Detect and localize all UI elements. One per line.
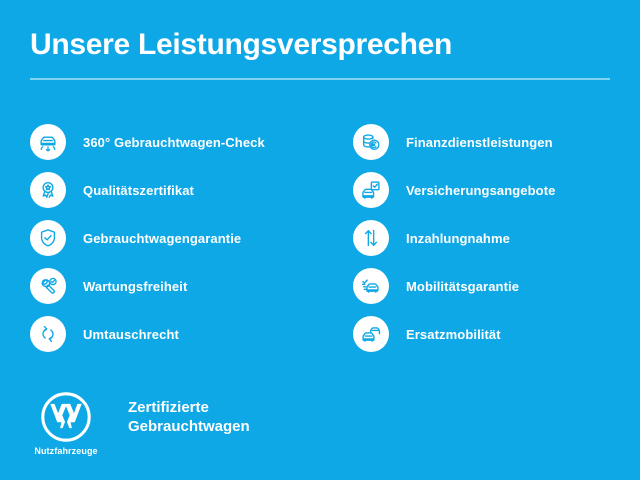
brand-mark: Nutzfahrzeuge <box>30 390 102 456</box>
footer-tagline-line2: Gebrauchtwagen <box>128 417 250 436</box>
benefit-item[interactable]: Versicherungsangebote <box>353 166 640 214</box>
benefits-column-left: 360° Gebrauchtwagen-Check Qualitätszerti… <box>0 118 327 358</box>
benefit-label: Mobilitätsgarantie <box>406 279 519 294</box>
benefit-label: 360° Gebrauchtwagen-Check <box>83 135 265 150</box>
title-divider <box>30 78 610 80</box>
car-document-icon <box>353 172 389 208</box>
benefit-label: Inzahlungnahme <box>406 231 510 246</box>
benefit-label: Gebrauchtwagengarantie <box>83 231 241 246</box>
shield-check-icon <box>30 220 66 256</box>
benefit-item[interactable]: Wartungsfreiheit <box>30 262 327 310</box>
benefits-column-right: Finanzdienstleistungen Versicherungsange… <box>327 118 640 358</box>
two-cars-icon <box>353 316 389 352</box>
coins-euro-icon <box>353 124 389 160</box>
footer-tagline: Zertifizierte Gebrauchtwagen <box>128 398 250 436</box>
slide-root: Unsere Leistungsversprechen 360° Gebrauc… <box>0 0 640 480</box>
benefits-section: 360° Gebrauchtwagen-Check Qualitätszerti… <box>0 118 640 358</box>
benefit-label: Versicherungsangebote <box>406 183 555 198</box>
benefit-label: Qualitätszertifikat <box>83 183 194 198</box>
footer-tagline-line1: Zertifizierte <box>128 398 250 417</box>
award-medal-icon <box>30 172 66 208</box>
benefit-label: Finanzdienstleistungen <box>406 135 553 150</box>
footer: Nutzfahrzeuge Zertifizierte Gebrauchtwag… <box>30 390 250 456</box>
benefit-item[interactable]: 360° Gebrauchtwagen-Check <box>30 118 327 166</box>
wrench-check-icon <box>30 268 66 304</box>
benefit-label: Wartungsfreiheit <box>83 279 187 294</box>
benefit-item[interactable]: Umtauschrecht <box>30 310 327 358</box>
exchange-arrows-icon <box>30 316 66 352</box>
page-title: Unsere Leistungsversprechen <box>30 28 610 61</box>
benefit-item[interactable]: Finanzdienstleistungen <box>353 118 640 166</box>
benefit-item[interactable]: Inzahlungnahme <box>353 214 640 262</box>
brand-subtitle: Nutzfahrzeuge <box>34 446 97 456</box>
benefit-label: Umtauschrecht <box>83 327 179 342</box>
benefit-item[interactable]: Ersatzmobilität <box>353 310 640 358</box>
benefit-item[interactable]: Mobilitätsgarantie <box>353 262 640 310</box>
header: Unsere Leistungsversprechen <box>30 28 610 80</box>
vw-roundel-logo <box>39 390 93 444</box>
car-speed-check-icon <box>353 268 389 304</box>
car-front-check-icon <box>30 124 66 160</box>
benefit-item[interactable]: Gebrauchtwagengarantie <box>30 214 327 262</box>
benefit-item[interactable]: Qualitätszertifikat <box>30 166 327 214</box>
up-down-arrows-icon <box>353 220 389 256</box>
benefit-label: Ersatzmobilität <box>406 327 501 342</box>
